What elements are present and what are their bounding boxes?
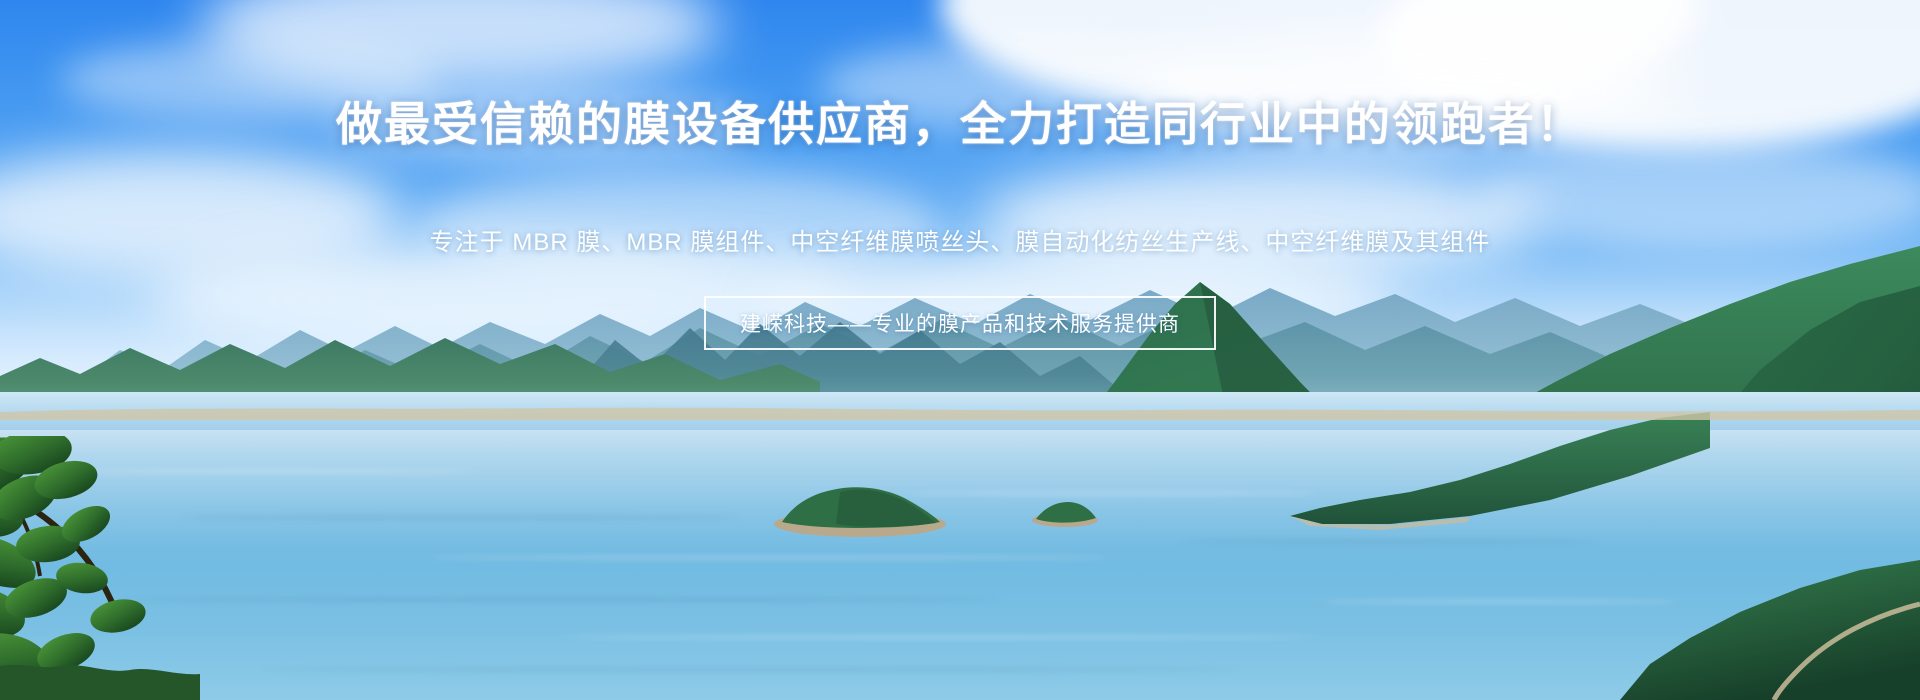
cloud xyxy=(820,40,1240,130)
island-small xyxy=(770,478,950,538)
water-ripple xyxy=(120,598,1000,601)
island-tiny xyxy=(1030,496,1100,528)
cloud xyxy=(330,90,760,160)
water-ripple xyxy=(560,636,1320,639)
water-ripple xyxy=(260,668,1240,671)
hero-banner: 做最受信赖的膜设备供应商，全力打造同行业中的领跑者！ 专注于 MBR 膜、MBR… xyxy=(0,0,1920,700)
banner-tagline-box[interactable]: 建嵘科技——专业的膜产品和技术服务提供商 xyxy=(704,296,1216,350)
wooded-peninsula xyxy=(1230,412,1710,542)
water-ripple xyxy=(180,516,740,519)
foreground-right-bank xyxy=(1500,560,1920,700)
far-shoreline xyxy=(0,398,1920,424)
foreground-grass xyxy=(0,640,200,700)
water-ripple xyxy=(420,556,1120,559)
